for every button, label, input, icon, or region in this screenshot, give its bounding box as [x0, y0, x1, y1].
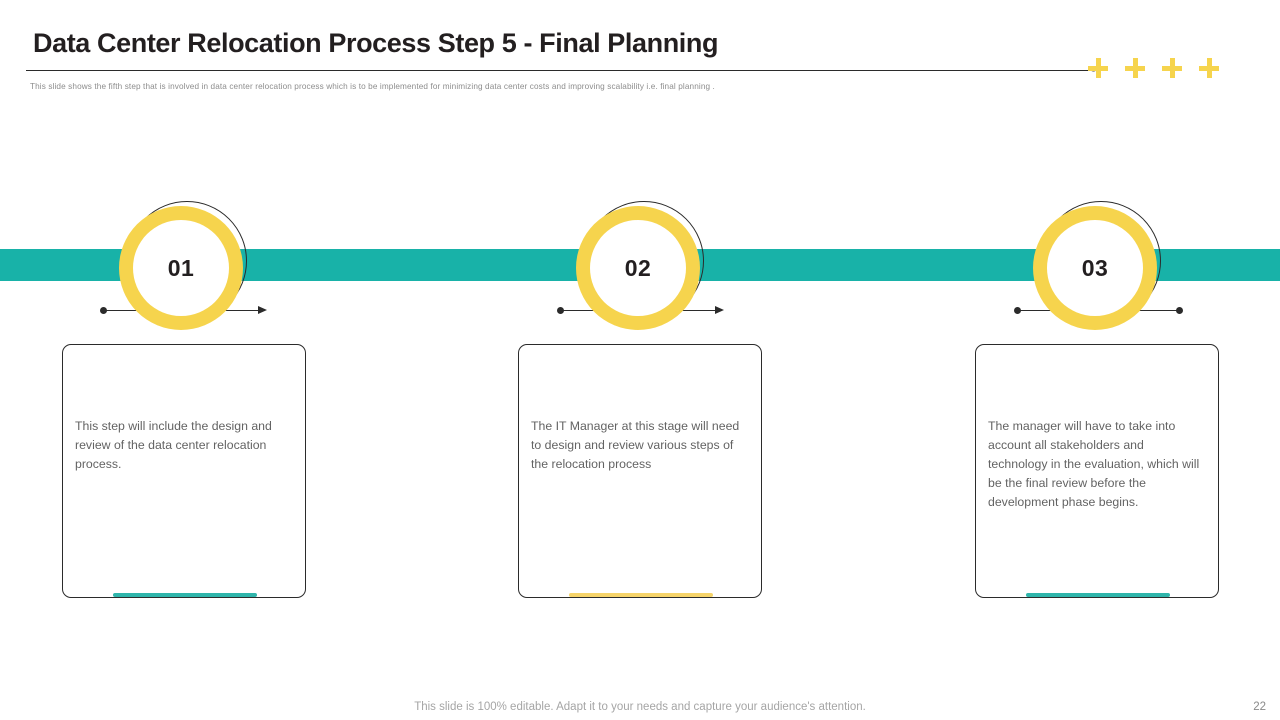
- plus-icon: [1088, 58, 1108, 78]
- step-badge-03[interactable]: 03: [1033, 201, 1163, 331]
- connector-dot-icon: [1176, 307, 1183, 314]
- connector-arrow-icon: [258, 306, 267, 314]
- card-accent-bar-01: [113, 593, 257, 597]
- plus-icon: [1162, 58, 1182, 78]
- card-accent-bar-03: [1026, 593, 1170, 597]
- connector-arrow-icon: [715, 306, 724, 314]
- step-card-03[interactable]: The manager will have to take into accou…: [975, 344, 1219, 598]
- step-card-01[interactable]: This step will include the design and re…: [62, 344, 306, 598]
- step-number-01: 01: [133, 220, 229, 316]
- step-number-03: 03: [1047, 220, 1143, 316]
- step-badge-01[interactable]: 01: [119, 201, 249, 331]
- step-card-text-02: The IT Manager at this stage will need t…: [531, 417, 747, 474]
- plus-icon: [1125, 58, 1145, 78]
- plus-decoration-group: [1088, 58, 1219, 78]
- card-accent-bar-02: [569, 593, 713, 597]
- slide-canvas: Data Center Relocation Process Step 5 - …: [0, 0, 1280, 720]
- page-subtitle: This slide shows the fifth step that is …: [30, 82, 715, 91]
- page-number: 22: [1253, 701, 1266, 713]
- footer-note: This slide is 100% editable. Adapt it to…: [0, 701, 1280, 713]
- step-number-02: 02: [590, 220, 686, 316]
- step-badge-02[interactable]: 02: [576, 201, 706, 331]
- step-card-text-01: This step will include the design and re…: [75, 417, 291, 474]
- step-card-text-03: The manager will have to take into accou…: [988, 417, 1204, 512]
- page-title: Data Center Relocation Process Step 5 - …: [33, 28, 718, 59]
- title-divider: [26, 70, 1093, 71]
- plus-icon: [1199, 58, 1219, 78]
- step-card-02[interactable]: The IT Manager at this stage will need t…: [518, 344, 762, 598]
